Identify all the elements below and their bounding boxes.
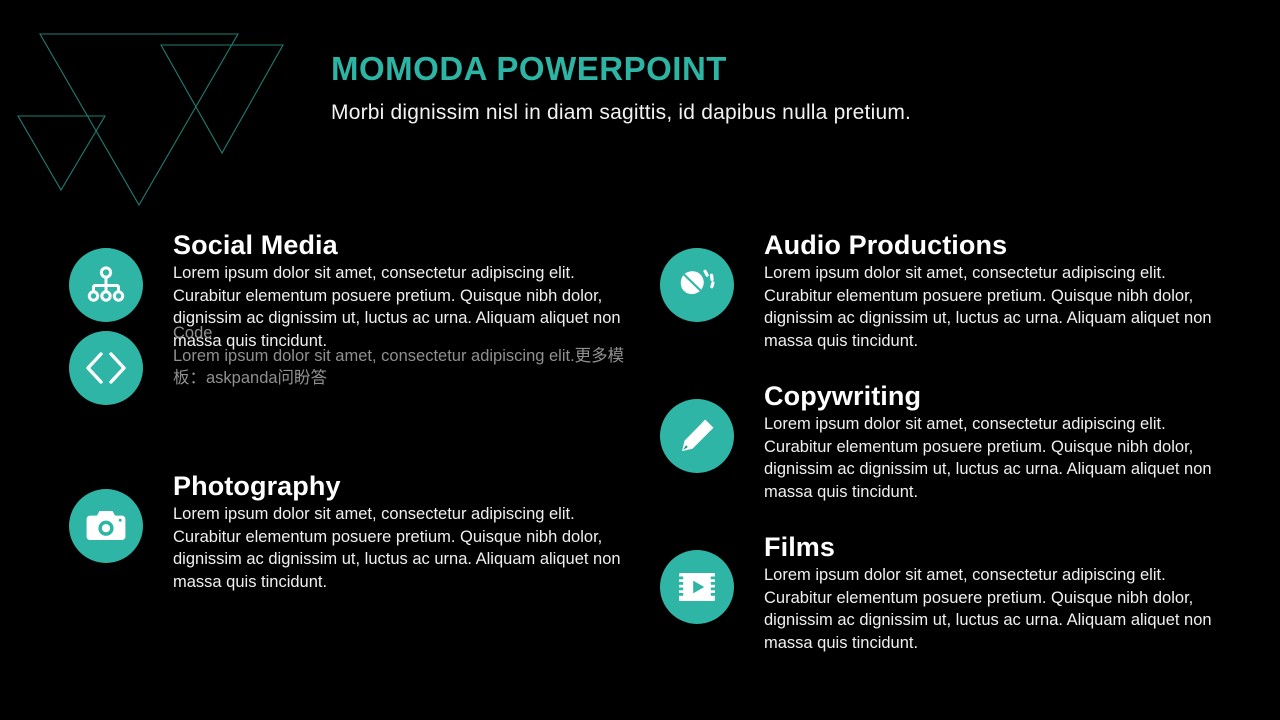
feature-item-copywriting[interactable]: Copywriting Lorem ipsum dolor sit amet, … (660, 382, 1220, 533)
feature-title: Code (173, 322, 629, 345)
left-column: Social Media Lorem ipsum dolor sit amet,… (69, 231, 629, 632)
feature-item-films[interactable]: Films Lorem ipsum dolor sit amet, consec… (660, 533, 1220, 693)
feature-description: Lorem ipsum dolor sit amet, consectetur … (764, 262, 1220, 352)
pencil-icon-badge[interactable] (660, 399, 734, 473)
feature-description: Lorem ipsum dolor sit amet, consectetur … (173, 345, 629, 390)
feature-title: Films (764, 533, 1220, 562)
feature-description: Lorem ipsum dolor sit amet, consectetur … (764, 413, 1220, 503)
feature-body: Audio Productions Lorem ipsum dolor sit … (764, 231, 1220, 352)
sitemap-icon (86, 265, 126, 305)
feature-body: Code Lorem ipsum dolor sit amet, consect… (173, 322, 629, 390)
sitemap-icon-badge[interactable] (69, 248, 143, 322)
right-column: Audio Productions Lorem ipsum dolor sit … (660, 231, 1220, 693)
page-subtitle: Morbi dignissim nisl in diam sagittis, i… (331, 101, 1091, 125)
feature-title: Audio Productions (764, 231, 1220, 260)
megaphone-icon-badge[interactable] (660, 248, 734, 322)
feature-description: Lorem ipsum dolor sit amet, consectetur … (764, 564, 1220, 654)
feature-title: Social Media (173, 231, 629, 260)
slide-header: MOMODA POWERPOINT Morbi dignissim nisl i… (331, 50, 1091, 125)
feature-title: Copywriting (764, 382, 1220, 411)
feature-body: Copywriting Lorem ipsum dolor sit amet, … (764, 382, 1220, 503)
megaphone-icon (676, 265, 718, 305)
page-title: MOMODA POWERPOINT (331, 50, 1091, 88)
feature-title: Photography (173, 472, 629, 501)
film-icon-badge[interactable] (660, 550, 734, 624)
camera-icon-badge[interactable] (69, 489, 143, 563)
feature-item-photography[interactable]: Photography Lorem ipsum dolor sit amet, … (69, 472, 629, 632)
decorative-triangles (0, 0, 330, 230)
code-icon (85, 351, 127, 385)
triangle-large (40, 34, 238, 205)
pencil-icon (677, 416, 717, 456)
slide-canvas: MOMODA POWERPOINT Morbi dignissim nisl i… (0, 0, 1280, 720)
film-icon (675, 570, 719, 604)
feature-item-audio-productions[interactable]: Audio Productions Lorem ipsum dolor sit … (660, 231, 1220, 382)
triangle-small (18, 116, 105, 190)
code-icon-badge[interactable] (69, 331, 143, 405)
triangle-medium (161, 45, 283, 153)
feature-description: Lorem ipsum dolor sit amet, consectetur … (173, 503, 629, 593)
feature-body: Photography Lorem ipsum dolor sit amet, … (173, 472, 629, 593)
feature-item-code[interactable]: Code Lorem ipsum dolor sit amet, consect… (69, 322, 629, 472)
camera-icon (85, 508, 127, 544)
feature-body: Films Lorem ipsum dolor sit amet, consec… (764, 533, 1220, 654)
